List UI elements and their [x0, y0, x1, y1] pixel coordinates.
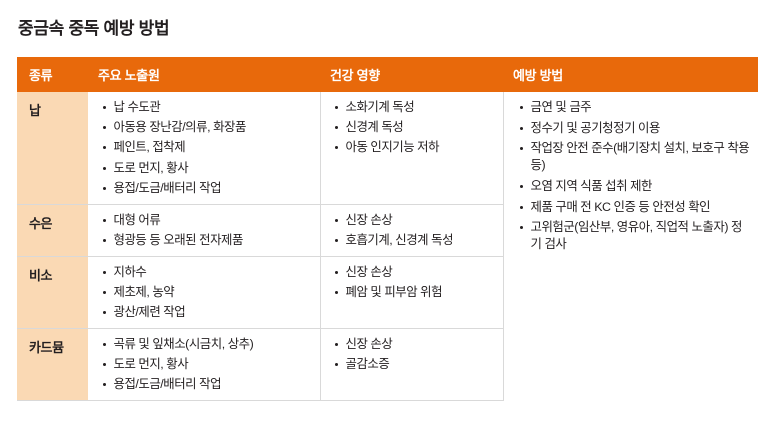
- list-item: 금연 및 금주: [518, 99, 753, 116]
- cell-health-effects: 신장 손상 호흡기계, 신경계 독성: [320, 204, 503, 256]
- heavy-metal-table-container: 종류 주요 노출원 건강 영향 예방 방법 납 납 수도관 아동용 장난감/의류…: [17, 57, 758, 401]
- list-item: 오염 지역 식품 섭취 제한: [518, 178, 753, 195]
- cell-metal-type: 수은: [17, 204, 88, 256]
- list-item: 소화기계 독성: [333, 99, 497, 116]
- list-item: 신장 손상: [333, 212, 497, 229]
- table-header: 종류 주요 노출원 건강 영향 예방 방법: [17, 57, 758, 92]
- exposure-source-list: 지하수 제초제, 농약 광산/제련 작업: [89, 264, 314, 321]
- list-item: 아동 인지기능 저하: [333, 139, 497, 156]
- prevention-method-list: 금연 및 금주 정수기 및 공기청정기 이용 작업장 안전 준수(배기장치 설치…: [504, 99, 753, 253]
- cell-metal-type: 납: [17, 92, 88, 204]
- list-item: 도로 먼지, 황사: [101, 160, 314, 177]
- list-item: 용접/도금/배터리 작업: [101, 180, 314, 197]
- cell-health-effects: 소화기계 독성 신경계 독성 아동 인지기능 저하: [320, 92, 503, 204]
- list-item: 작업장 안전 준수(배기장치 설치, 보호구 착용 등): [518, 140, 753, 173]
- cell-exposure-sources: 지하수 제초제, 농약 광산/제련 작업: [88, 256, 320, 328]
- health-effect-list: 신장 손상 호흡기계, 신경계 독성: [321, 212, 497, 249]
- exposure-source-list: 납 수도관 아동용 장난감/의류, 화장품 페인트, 접착제 도로 먼지, 황사…: [89, 99, 314, 197]
- cell-metal-type: 카드뮴: [17, 328, 88, 400]
- list-item: 곡류 및 잎채소(시금치, 상추): [101, 336, 314, 353]
- exposure-source-list: 대형 어류 형광등 등 오래된 전자제품: [89, 212, 314, 249]
- list-item: 납 수도관: [101, 99, 314, 116]
- list-item: 고위험군(임산부, 영유아, 직업적 노출자) 정기 검사: [518, 219, 753, 252]
- list-item: 호흡기계, 신경계 독성: [333, 232, 497, 249]
- list-item: 제초제, 농약: [101, 284, 314, 301]
- cell-prevention-methods: 금연 및 금주 정수기 및 공기청정기 이용 작업장 안전 준수(배기장치 설치…: [503, 92, 758, 401]
- list-item: 형광등 등 오래된 전자제품: [101, 232, 314, 249]
- list-item: 도로 먼지, 황사: [101, 356, 314, 373]
- list-item: 아동용 장난감/의류, 화장품: [101, 119, 314, 136]
- list-item: 용접/도금/배터리 작업: [101, 376, 314, 393]
- cell-health-effects: 신장 손상 골감소증: [320, 328, 503, 400]
- list-item: 신장 손상: [333, 264, 497, 281]
- page-root: 중금속 중독 예방 방법 종류 주요 노출원 건강 영향 예방 방법 납: [0, 0, 780, 444]
- column-header-sources: 주요 노출원: [88, 57, 320, 92]
- health-effect-list: 신장 손상 폐암 및 피부암 위험: [321, 264, 497, 301]
- list-item: 폐암 및 피부암 위험: [333, 284, 497, 301]
- column-header-prevention: 예방 방법: [503, 57, 758, 92]
- list-item: 신장 손상: [333, 336, 497, 353]
- list-item: 제품 구매 전 KC 인증 등 안전성 확인: [518, 199, 753, 216]
- cell-metal-type: 비소: [17, 256, 88, 328]
- list-item: 대형 어류: [101, 212, 314, 229]
- list-item: 지하수: [101, 264, 314, 281]
- exposure-source-list: 곡류 및 잎채소(시금치, 상추) 도로 먼지, 황사 용접/도금/배터리 작업: [89, 336, 314, 393]
- cell-health-effects: 신장 손상 폐암 및 피부암 위험: [320, 256, 503, 328]
- table-body: 납 납 수도관 아동용 장난감/의류, 화장품 페인트, 접착제 도로 먼지, …: [17, 92, 758, 401]
- list-item: 정수기 및 공기청정기 이용: [518, 120, 753, 137]
- list-item: 골감소증: [333, 356, 497, 373]
- heavy-metal-table: 종류 주요 노출원 건강 영향 예방 방법 납 납 수도관 아동용 장난감/의류…: [17, 57, 758, 401]
- list-item: 페인트, 접착제: [101, 139, 314, 156]
- cell-exposure-sources: 곡류 및 잎채소(시금치, 상추) 도로 먼지, 황사 용접/도금/배터리 작업: [88, 328, 320, 400]
- health-effect-list: 신장 손상 골감소증: [321, 336, 497, 373]
- table-row: 납 납 수도관 아동용 장난감/의류, 화장품 페인트, 접착제 도로 먼지, …: [17, 92, 758, 204]
- list-item: 광산/제련 작업: [101, 304, 314, 321]
- health-effect-list: 소화기계 독성 신경계 독성 아동 인지기능 저하: [321, 99, 497, 156]
- table-header-row: 종류 주요 노출원 건강 영향 예방 방법: [17, 57, 758, 92]
- column-header-type: 종류: [17, 57, 88, 92]
- column-header-health: 건강 영향: [320, 57, 503, 92]
- cell-exposure-sources: 대형 어류 형광등 등 오래된 전자제품: [88, 204, 320, 256]
- list-item: 신경계 독성: [333, 119, 497, 136]
- page-title: 중금속 중독 예방 방법: [18, 14, 169, 39]
- cell-exposure-sources: 납 수도관 아동용 장난감/의류, 화장품 페인트, 접착제 도로 먼지, 황사…: [88, 92, 320, 204]
